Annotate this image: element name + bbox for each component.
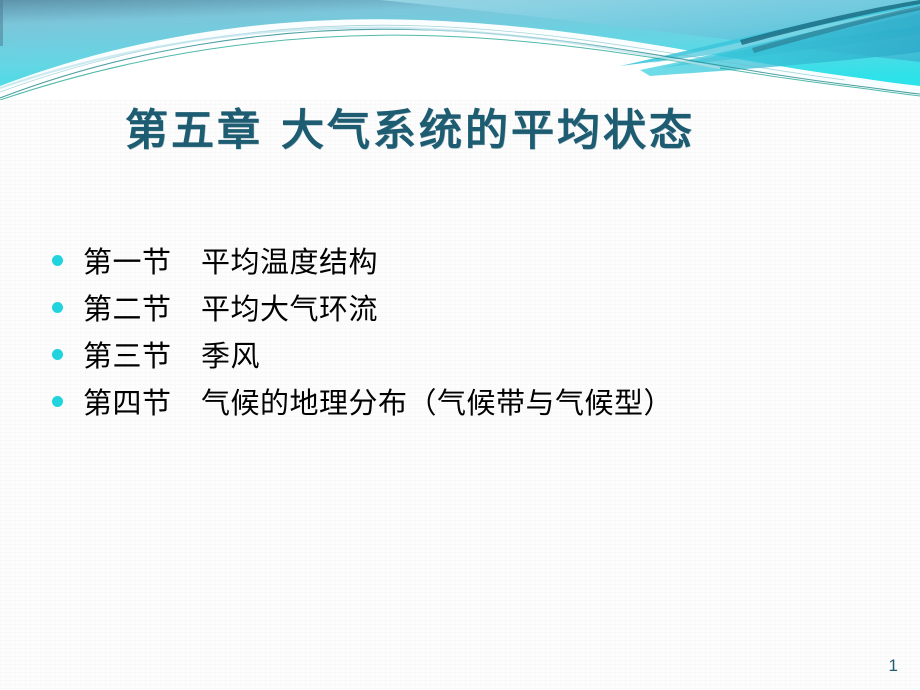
bullet-dot-icon [52,255,63,266]
page-number: 1 [889,656,898,676]
list-item-label: 第三节 季风 [83,333,260,375]
list-item[interactable]: 第三节 季风 [52,330,872,377]
list-item[interactable]: 第四节 气候的地理分布（气候带与气候型） [52,377,872,424]
list-item[interactable]: 第一节 平均温度结构 [52,236,872,283]
slide-title: 第五章 大气系统的平均状态 [0,100,920,162]
decorative-wave-banner [0,0,920,100]
bullet-dot-icon [52,396,63,407]
slide-title-text: 第五章 大气系统的平均状态 [125,100,695,162]
list-item-label: 第二节 平均大气环流 [83,286,378,328]
section-list: 第一节 平均温度结构 第二节 平均大气环流 第三节 季风 第四节 气候的地理分布… [52,236,872,424]
list-item-label: 第四节 气候的地理分布（气候带与气候型） [83,380,673,422]
list-item-label: 第一节 平均温度结构 [83,239,378,281]
bullet-dot-icon [52,349,63,360]
list-item[interactable]: 第二节 平均大气环流 [52,283,872,330]
presentation-slide: 第五章 大气系统的平均状态 第一节 平均温度结构 第二节 平均大气环流 第三节 … [0,0,920,690]
bullet-dot-icon [52,302,63,313]
